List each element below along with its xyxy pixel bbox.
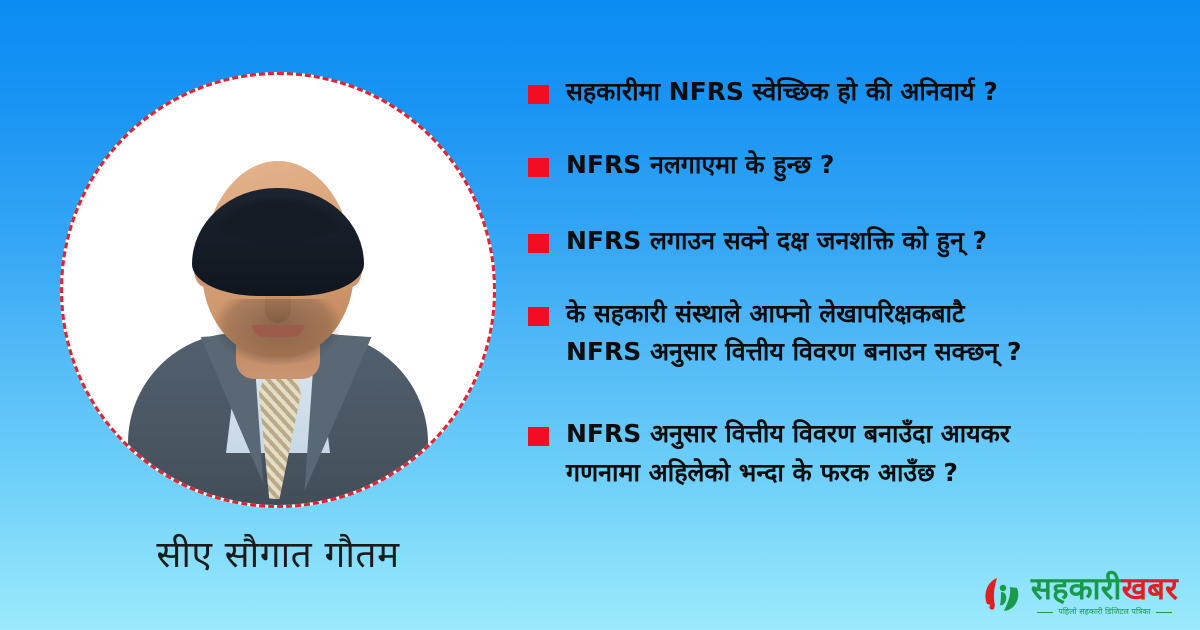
brand-logo[interactable]: सहकारीखबर पहिलो सहकारी डिजिटल पत्रिका: [981, 574, 1178, 616]
head-shape: [202, 161, 354, 357]
question-item: NFRS अनुसार वित्तीय विवरण बनाउँदा आयकर ग…: [528, 416, 1164, 491]
question-item: NFRS नलगाएमा के हुन्छ ?: [528, 147, 1164, 183]
tagline-text: पहिलो सहकारी डिजिटल पत्रिका: [1058, 608, 1150, 616]
question-line: NFRS अनुसार वित्तीय विवरण बनाउँदा आयकर: [566, 416, 1164, 452]
question-line: NFRS लगाउन सक्ने दक्ष जनशक्ति को हुन् ?: [566, 223, 1164, 259]
tagline-rule-right: [1156, 612, 1172, 613]
tagline-rule-left: [1037, 612, 1053, 613]
red-square-bullet-icon: [528, 158, 549, 177]
hair-tuft-shape: [208, 196, 348, 242]
mouth-shape: [252, 325, 304, 337]
question-line: के सहकारी संस्थाले आफ्नो लेखापरिक्षकबाटै: [566, 296, 1164, 332]
brand-name-part-1: सहकारी: [1031, 571, 1122, 607]
portrait-block: सीए सौगात गौतम: [60, 72, 505, 592]
red-square-bullet-icon: [528, 307, 549, 326]
red-square-bullet-icon: [528, 427, 549, 446]
question-line: गणनामा अहिलेको भन्दा के फरक आउँछ ?: [566, 455, 1164, 491]
red-square-bullet-icon: [528, 85, 549, 104]
question-item: सहकारीमा NFRS स्वेच्छिक हो की अनिवार्य ?: [528, 74, 1164, 110]
brand-tagline: पहिलो सहकारी डिजिटल पत्रिका: [1031, 608, 1178, 616]
hair-shape: [192, 188, 364, 296]
speaker-photo: [63, 75, 493, 505]
question-item: के सहकारी संस्थाले आफ्नो लेखापरिक्षकबाटै…: [528, 296, 1164, 371]
brand-text: सहकारीखबर पहिलो सहकारी डिजिटल पत्रिका: [1031, 574, 1178, 616]
question-line: सहकारीमा NFRS स्वेच्छिक हो की अनिवार्य ?: [566, 74, 1164, 110]
question-line: NFRS नलगाएमा के हुन्छ ?: [566, 147, 1164, 183]
question-list: सहकारीमा NFRS स्वेच्छिक हो की अनिवार्य ?…: [528, 74, 1164, 491]
speaker-name: सीए सौगात गौतम: [60, 534, 496, 577]
brand-name-part-2: खबर: [1122, 571, 1178, 607]
red-square-bullet-icon: [528, 234, 549, 253]
nfrs-question-card: सीए सौगात गौतम सहकारीमा NFRS स्वेच्छिक ह…: [0, 0, 1200, 630]
question-item: NFRS लगाउन सक्ने दक्ष जनशक्ति को हुन् ?: [528, 223, 1164, 259]
leaf-person-logo-icon: [981, 574, 1023, 616]
question-line: NFRS अनुसार वित्तीय विवरण बनाउन सक्छन् ?: [566, 334, 1164, 370]
brand-title: सहकारीखबर: [1031, 571, 1178, 607]
portrait-circle-frame: [60, 72, 496, 508]
